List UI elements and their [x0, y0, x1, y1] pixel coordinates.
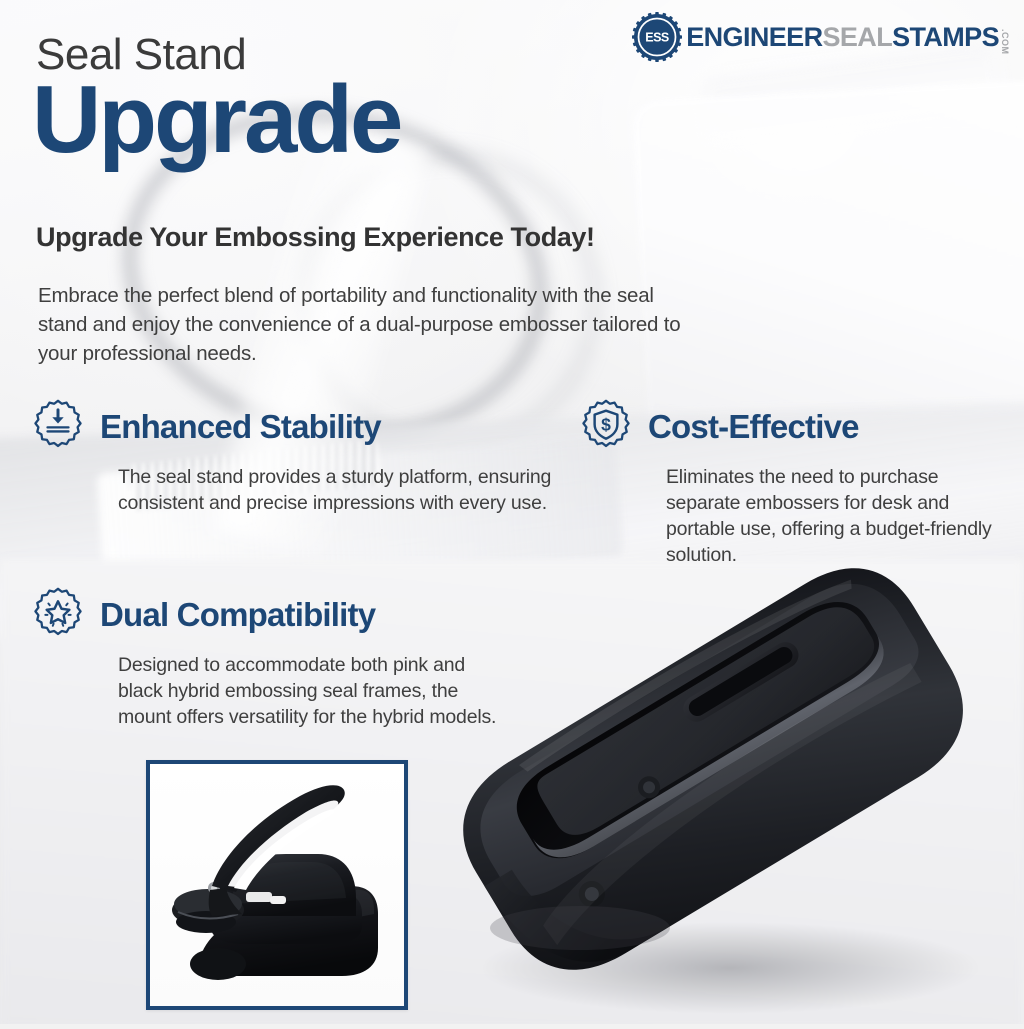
main-product-image	[430, 560, 1024, 1024]
feature-title: Cost-Effective	[648, 410, 859, 443]
feature-title: Dual Compatibility	[100, 598, 375, 631]
feature-cost-effective: $ Cost-Effective Eliminates the need to …	[578, 398, 998, 569]
feature-title: Enhanced Stability	[100, 410, 381, 443]
feature-enhanced-stability: Enhanced Stability The seal stand provid…	[30, 398, 560, 516]
headline-large: Upgrade	[32, 72, 400, 168]
subheading: Upgrade Your Embossing Experience Today!	[36, 222, 595, 253]
star-sparkle-badge-icon	[30, 586, 86, 642]
feature-body: The seal stand provides a sturdy platfor…	[118, 464, 560, 516]
logo-text-stamps: STAMPS	[892, 22, 999, 52]
down-arrow-press-badge-icon	[30, 398, 86, 454]
ess-gear-badge-icon: ESS	[632, 12, 682, 62]
svg-text:ESS: ESS	[645, 31, 669, 45]
shield-dollar-badge-icon: $	[578, 398, 634, 454]
logo-text-engineer: ENGINEER	[686, 22, 822, 52]
intro-paragraph: Embrace the perfect blend of portability…	[38, 281, 708, 368]
feature-body: Eliminates the need to purchase separate…	[666, 464, 998, 569]
inset-product-image	[146, 760, 408, 1010]
brand-logo[interactable]: ESS ENGINEERSEALSTAMPS .COM	[632, 12, 1010, 62]
svg-text:$: $	[601, 414, 611, 434]
logo-text-seal: SEAL	[822, 22, 892, 52]
logo-text-dotcom: .COM	[1000, 29, 1010, 55]
